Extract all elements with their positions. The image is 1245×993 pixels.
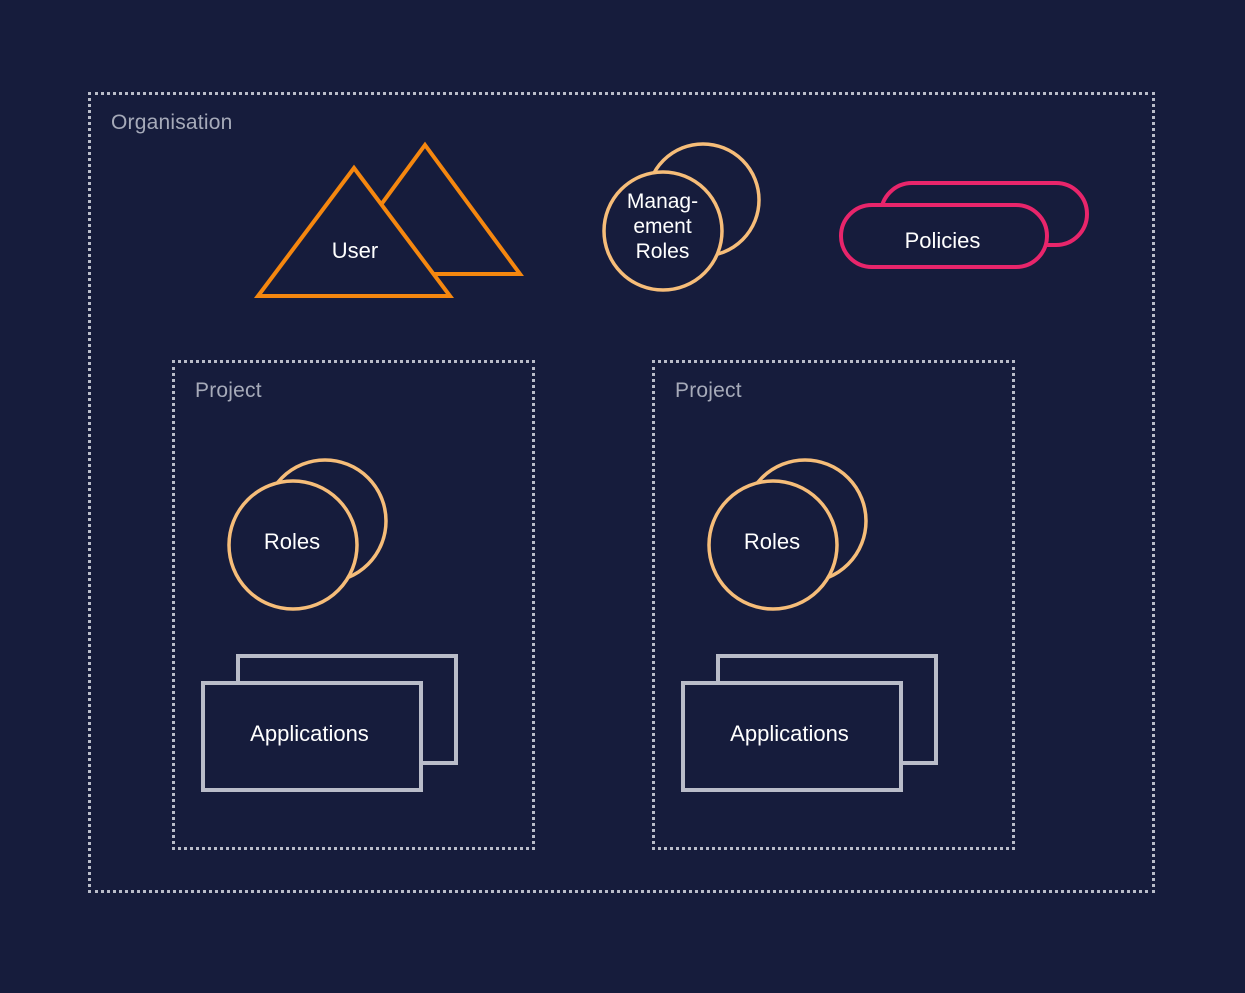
- applications-rect-front-1: [203, 683, 421, 790]
- roles-circle-front-1: [229, 481, 357, 609]
- user-triangle-front: [258, 168, 450, 296]
- organisation-label: Organisation: [111, 111, 232, 135]
- roles-shape-2[interactable]: [702, 458, 872, 613]
- roles-circle-front-2: [709, 481, 837, 609]
- user-shape[interactable]: [255, 138, 525, 303]
- project-label-1: Project: [195, 379, 262, 403]
- applications-rect-front-2: [683, 683, 901, 790]
- diagram-canvas: Organisation User Manag- ement Roles Pol…: [0, 0, 1245, 993]
- policies-pill-front: [841, 205, 1047, 267]
- roles-shape-1[interactable]: [222, 458, 392, 613]
- management-roles-circle-front: [604, 172, 722, 290]
- policies-shape[interactable]: [838, 180, 1090, 270]
- applications-shape-2[interactable]: [680, 653, 940, 793]
- project-label-2: Project: [675, 379, 742, 403]
- applications-shape-1[interactable]: [200, 653, 460, 793]
- management-roles-shape[interactable]: [596, 139, 771, 294]
